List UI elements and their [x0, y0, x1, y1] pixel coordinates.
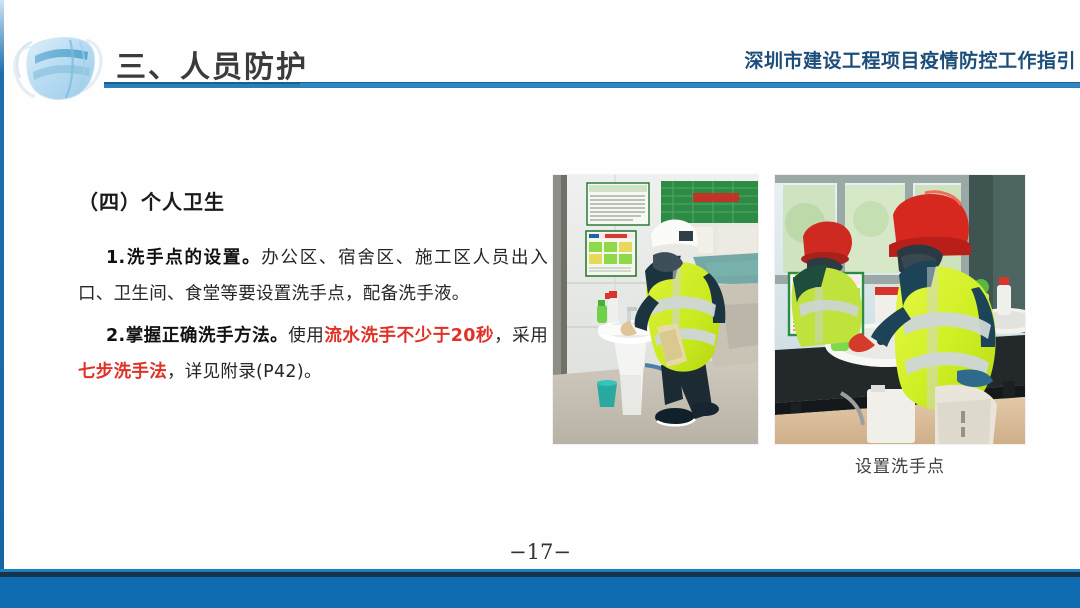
paragraph-2-text-c: ，详见附录(P42)。 — [167, 362, 322, 382]
paragraph-2-text-a: 使用 — [288, 326, 324, 346]
paragraph-1-lead: 洗手点的设置。 — [125, 248, 261, 268]
paragraph-2-number: 2. — [106, 326, 125, 346]
document-title: 深圳市建设工程项目疫情防控工作指引 — [744, 46, 1076, 73]
paragraph-2-text-b: ，采用 — [494, 326, 548, 346]
workers-washing-hands-handwash-station-photo — [775, 175, 1025, 444]
paragraph-2-lead: 掌握正确洗手方法。 — [125, 326, 288, 346]
paragraph-1: 1.洗手点的设置。办公区、宿舍区、施工区人员出入口、卫生间、食堂等要设置洗手点，… — [78, 241, 548, 313]
header-divider-extension — [300, 83, 1080, 87]
paragraph-2-highlight-b: 七步洗手法 — [78, 362, 167, 382]
subsection-heading: （四）个人卫生 — [78, 186, 548, 215]
slide: 三、人员防护 深圳市建设工程项目疫情防控工作指引 （四）个人卫生 1.洗手点的设… — [0, 0, 1080, 608]
page-number: −17− — [0, 540, 1080, 564]
slide-header: 三、人员防护 深圳市建设工程项目疫情防控工作指引 — [0, 0, 1080, 100]
paragraph-2-highlight-a: 流水洗手不少于20秒 — [324, 326, 494, 346]
photo-caption: 设置洗手点 — [775, 452, 1025, 477]
paragraph-2: 2.掌握正确洗手方法。使用流水洗手不少于20秒，采用七步洗手法，详见附录(P42… — [78, 319, 548, 391]
body-copy: （四）个人卫生 1.洗手点的设置。办公区、宿舍区、施工区人员出入口、卫生间、食堂… — [78, 186, 548, 397]
worker-washing-hands-at-sink-photo — [553, 175, 758, 444]
footer-bar — [0, 572, 1080, 608]
page-title: 三、人员防护 — [116, 42, 308, 86]
surgical-mask-icon — [8, 32, 108, 104]
paragraph-1-number: 1. — [106, 248, 125, 268]
